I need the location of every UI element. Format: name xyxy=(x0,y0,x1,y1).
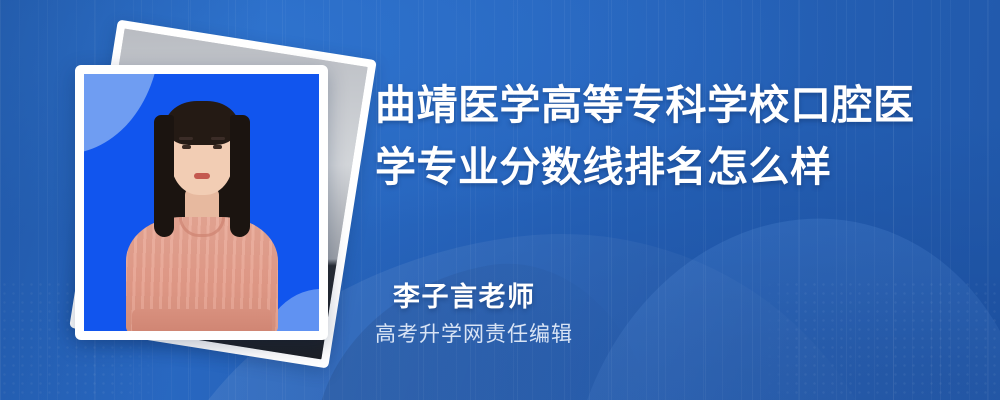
article-header-banner: 曲靖医学高等专科学校口腔医学专业分数线排名怎么样 李子言老师 高考升学网责任编辑 xyxy=(0,0,1000,400)
banner-text-column: 曲靖医学高等专科学校口腔医学专业分数线排名怎么样 李子言老师 高考升学网责任编辑 xyxy=(373,0,973,400)
portrait-hair-fringe xyxy=(165,101,239,145)
portrait-lips xyxy=(194,173,210,179)
portrait-eyebrow-right xyxy=(211,137,225,140)
page-title: 曲靖医学高等专科学校口腔医学专业分数线排名怎么样 xyxy=(375,74,951,198)
portrait-eye-right xyxy=(213,145,222,149)
portrait-hair-right xyxy=(230,115,250,237)
portrait-hair-left xyxy=(154,115,174,237)
portrait-eye-left xyxy=(182,145,191,149)
portrait-dress-waist xyxy=(132,309,272,331)
portrait-eyebrow-left xyxy=(179,137,193,140)
portrait-figure xyxy=(102,91,302,331)
portrait-photo xyxy=(84,74,319,331)
author-role: 高考升学网责任编辑 xyxy=(375,318,573,348)
photo-frame-front xyxy=(75,65,328,340)
author-name: 李子言老师 xyxy=(393,275,536,314)
photo-card-stack xyxy=(46,44,376,364)
